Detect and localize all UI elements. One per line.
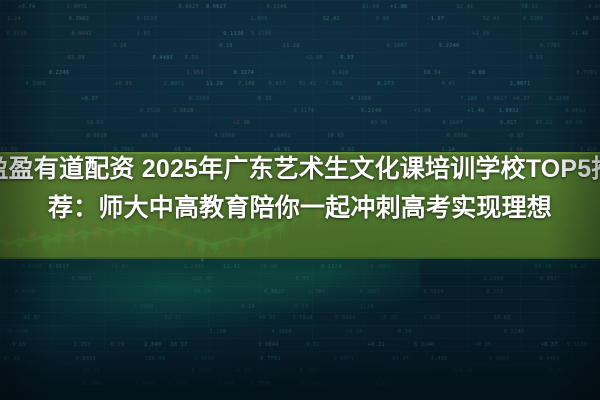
thumbnail-canvas: +0.742.00710.66270.66270.224663.09+1.085…: [0, 0, 600, 400]
headline-band-bottom-edge: [0, 257, 600, 259]
headline-band-top-edge: [0, 152, 600, 154]
headline-band: [0, 152, 600, 259]
